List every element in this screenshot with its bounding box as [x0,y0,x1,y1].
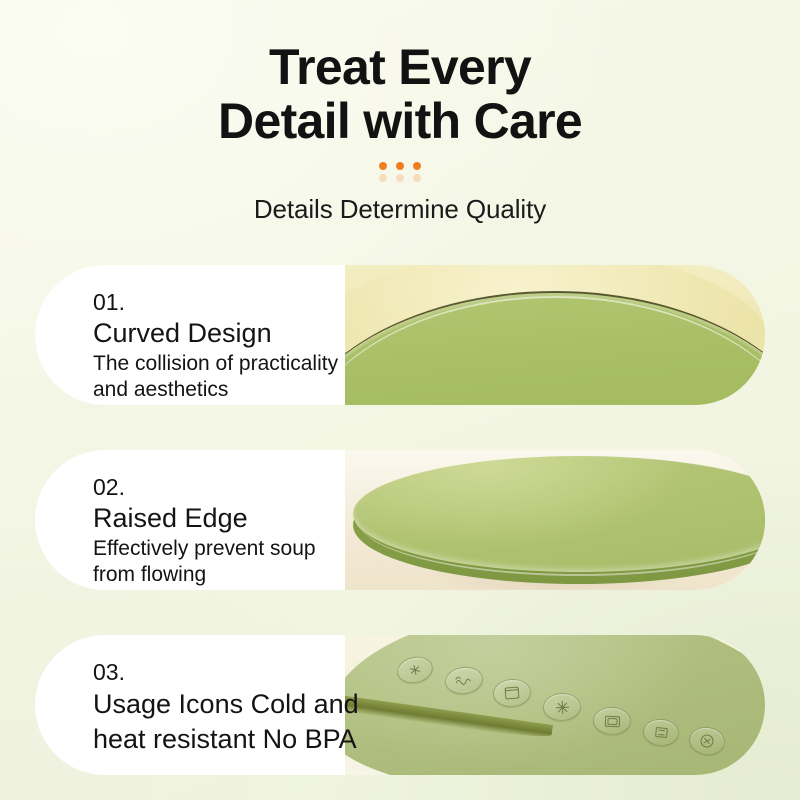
feature-card-title: Curved Design [93,317,375,349]
dot-icon [396,174,404,182]
header: Treat Every Detail with Care Details Det… [0,40,800,225]
feature-card-description: heat resistant No BPA [93,723,375,756]
dot-icon [413,174,421,182]
product-image-curved-design [345,265,765,405]
feature-card-number: 01. [93,289,375,316]
feature-card-description: Usage Icons Cold and [93,688,375,721]
feature-card-number: 02. [93,474,375,501]
feature-card-description: The collision of practicality [93,351,375,376]
feature-card-list: 01. Curved Design The collision of pract… [35,265,765,775]
decorative-dots [377,162,423,182]
dishwasher-safe-icon [593,706,632,735]
page-title-line-2: Detail with Care [40,94,760,148]
microwave-safe-icon [443,664,484,696]
dot-icon [396,162,404,170]
dot-icon [379,174,387,182]
feature-card-text: 02. Raised Edge Effectively prevent soup… [35,450,375,590]
feature-card-text: 01. Curved Design The collision of pract… [35,265,375,405]
page-subtitle: Details Determine Quality [0,194,800,225]
food-grade-icon [687,724,727,757]
feature-card-title: Raised Edge [93,502,375,534]
page-title-line-1: Treat Every [269,39,531,95]
feature-card: 02. Raised Edge Effectively prevent soup… [35,450,765,590]
usage-icon-group [397,653,727,763]
feature-card-description: from flowing [93,562,375,587]
feature-card-description: and aesthetics [93,377,375,402]
product-image-usage-icons [345,635,765,775]
feature-card-text: 03. Usage Icons Cold and heat resistant … [35,635,375,775]
dot-icon [379,162,387,170]
dot-icon [413,162,421,170]
oven-safe-icon [492,677,532,708]
heat-resistant-icon [543,692,582,721]
product-image-raised-edge [345,450,765,590]
page-title: Treat Every Detail with Care [0,40,800,148]
feature-card: 01. Curved Design The collision of pract… [35,265,765,405]
no-bpa-icon [642,717,680,747]
feature-card-description: Effectively prevent soup [93,536,375,561]
freezer-safe-icon [395,654,436,687]
feature-card-number: 03. [93,659,375,686]
feature-card: 03. Usage Icons Cold and heat resistant … [35,635,765,775]
